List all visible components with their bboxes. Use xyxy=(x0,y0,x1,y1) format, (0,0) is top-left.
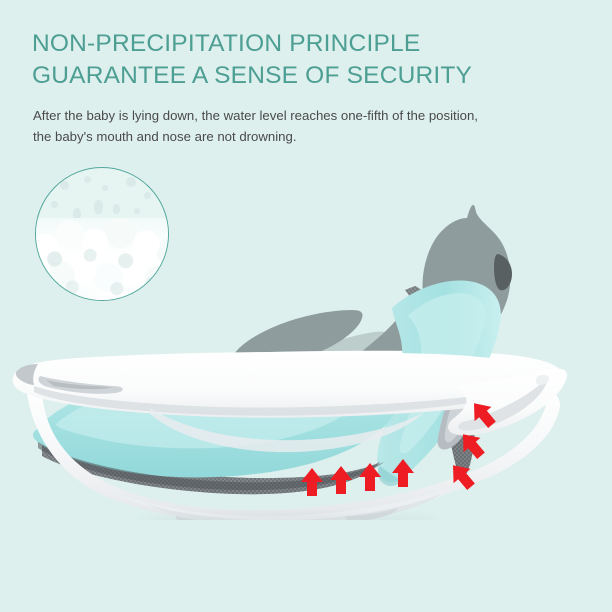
page-title: NON-PRECIPITATION PRINCIPLE GUARANTEE A … xyxy=(32,28,572,92)
product-feature-slide: NON-PRECIPITATION PRINCIPLE GUARANTEE A … xyxy=(0,0,612,612)
baby-bathtub-illustration xyxy=(0,190,612,520)
arrow-up xyxy=(301,468,323,496)
arrow-up xyxy=(330,466,352,494)
bubble-bead xyxy=(84,176,91,183)
bubble-bead xyxy=(60,181,69,190)
description-text: After the baby is lying down, the water … xyxy=(33,105,513,147)
bubble-bead xyxy=(126,177,136,187)
